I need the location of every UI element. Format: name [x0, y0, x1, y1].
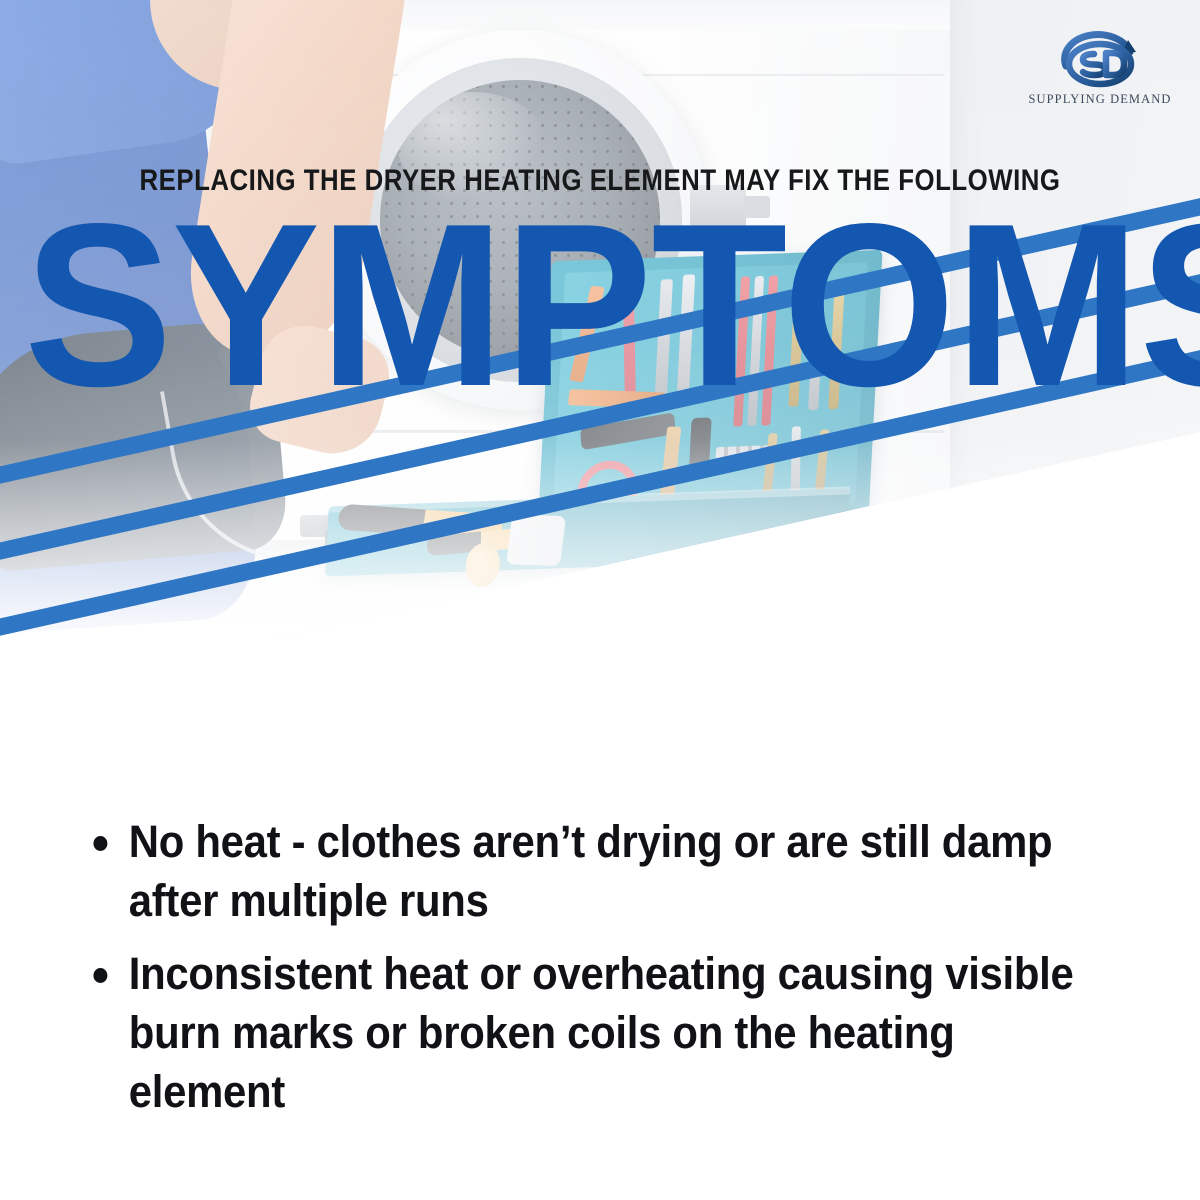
tool-socket-row — [715, 444, 796, 459]
page-title: SYMPTOMS — [24, 196, 1176, 416]
list-item: No heat - clothes aren’t drying or are s… — [86, 812, 1100, 930]
brand-logo: SUPPLYING DEMAND — [1020, 16, 1180, 116]
symptom-list: No heat - clothes aren’t drying or are s… — [86, 812, 1176, 1135]
list-item: Inconsistent heat or overheating causing… — [86, 944, 1100, 1121]
infographic-poster: SUPPLYING DEMAND REPLACING THE DRYER HEA… — [0, 0, 1200, 1200]
logo-wordmark: SUPPLYING DEMAND — [1028, 92, 1171, 107]
tape-measure — [506, 514, 566, 566]
supplying-demand-logo-icon — [1044, 26, 1156, 90]
